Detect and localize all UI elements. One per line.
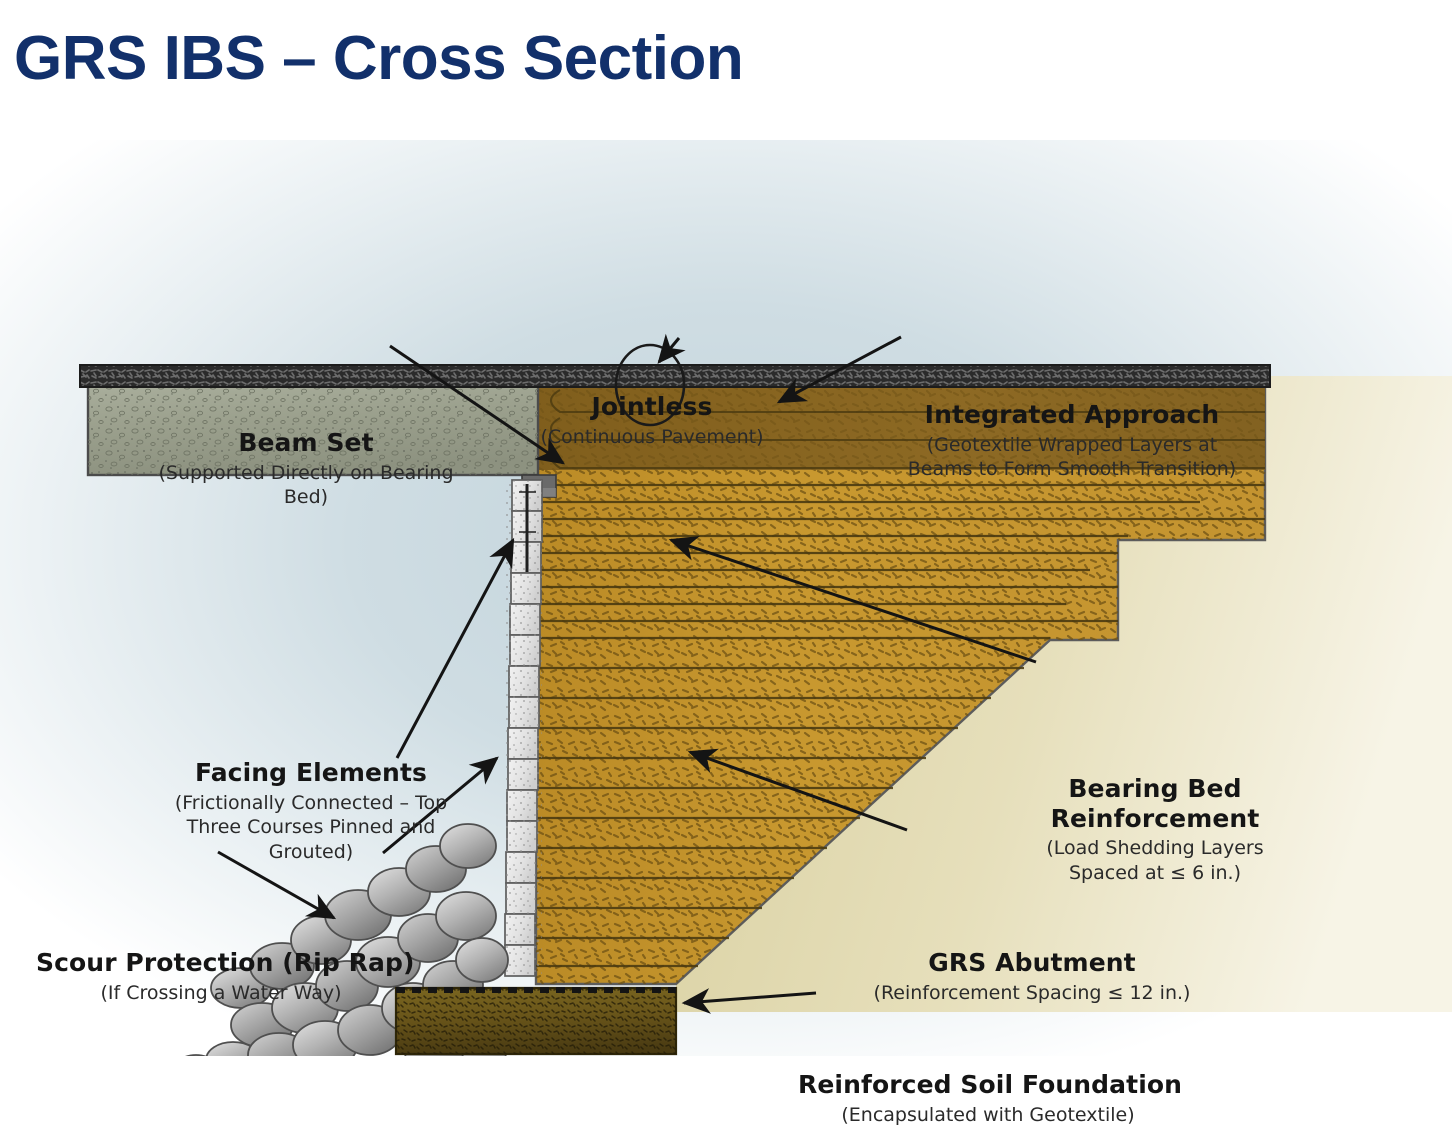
callout-jointless-subtitle: (Continuous Pavement)	[539, 425, 765, 450]
callout-bearing-bed-reinforcement: Bearing Bed Reinforcement (Load Shedding…	[1040, 774, 1270, 885]
callout-jointless-title: Jointless	[539, 392, 765, 422]
callout-reinforced-soil-foundation-title: Reinforced Soil Foundation	[798, 1070, 1178, 1100]
callout-integrated-approach-title: Integrated Approach	[892, 400, 1252, 430]
facing-block-wall	[505, 480, 542, 976]
callout-scour-protection: Scour Protection (Rip Rap) (If Crossing …	[36, 948, 406, 1005]
callout-beam-set-subtitle: (Supported Directly on Bearing Bed)	[141, 461, 471, 510]
cross-section-drawing	[0, 140, 1452, 1056]
callout-reinforced-soil-foundation: Reinforced Soil Foundation (Encapsulated…	[798, 1070, 1178, 1127]
callout-bearing-bed-reinforcement-subtitle: (Load Shedding Layers Spaced at ≤ 6 in.)	[1040, 836, 1270, 885]
callout-grs-abutment-title: GRS Abutment	[862, 948, 1202, 978]
callout-integrated-approach: Integrated Approach (Geotextile Wrapped …	[892, 400, 1252, 482]
callout-reinforced-soil-foundation-subtitle: (Encapsulated with Geotextile)	[798, 1103, 1178, 1127]
callout-grs-abutment-subtitle: (Reinforcement Spacing ≤ 12 in.)	[862, 981, 1202, 1006]
callout-bearing-bed-reinforcement-title: Bearing Bed Reinforcement	[1040, 774, 1270, 833]
callout-integrated-approach-subtitle: (Geotextile Wrapped Layers at Beams to F…	[892, 433, 1252, 482]
callout-facing-elements-title: Facing Elements	[146, 758, 476, 788]
callout-scour-protection-title: Scour Protection (Rip Rap)	[36, 948, 406, 978]
pavement-layer	[80, 365, 1270, 387]
callout-facing-elements: Facing Elements (Frictionally Connected …	[146, 758, 476, 865]
callout-facing-elements-subtitle: (Frictionally Connected – Top Three Cour…	[146, 791, 476, 865]
callout-scour-protection-subtitle: (If Crossing a Water Way)	[36, 981, 406, 1006]
slide-root: GRS IBS – Cross Section	[0, 0, 1452, 1056]
callout-grs-abutment: GRS Abutment (Reinforcement Spacing ≤ 12…	[862, 948, 1202, 1005]
callout-beam-set: Beam Set (Supported Directly on Bearing …	[141, 428, 471, 510]
page-title: GRS IBS – Cross Section	[14, 26, 743, 91]
cross-section-figure: Beam Set (Supported Directly on Bearing …	[0, 140, 1452, 1056]
callout-jointless: Jointless (Continuous Pavement)	[539, 392, 765, 449]
callout-beam-set-title: Beam Set	[141, 428, 471, 458]
